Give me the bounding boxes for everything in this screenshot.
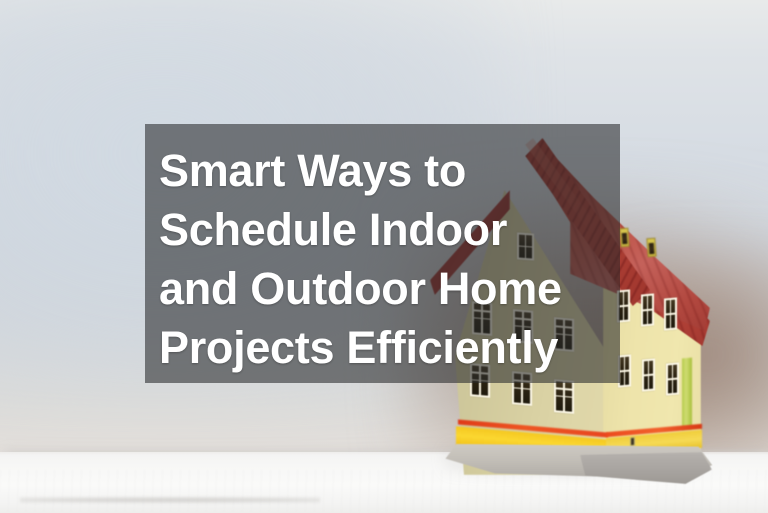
side-window <box>664 297 677 330</box>
dormer-window-icon <box>646 238 656 258</box>
side-window <box>641 293 654 326</box>
front-window <box>554 379 574 414</box>
side-window <box>642 358 655 391</box>
downspout <box>682 358 692 431</box>
table-speckle <box>20 496 320 504</box>
page-title: Smart Ways to Schedule Indoor and Outdoo… <box>159 141 629 377</box>
house-small-door <box>630 437 635 446</box>
side-window <box>666 362 679 395</box>
header-image: Smart Ways to Schedule Indoor and Outdoo… <box>0 0 768 513</box>
